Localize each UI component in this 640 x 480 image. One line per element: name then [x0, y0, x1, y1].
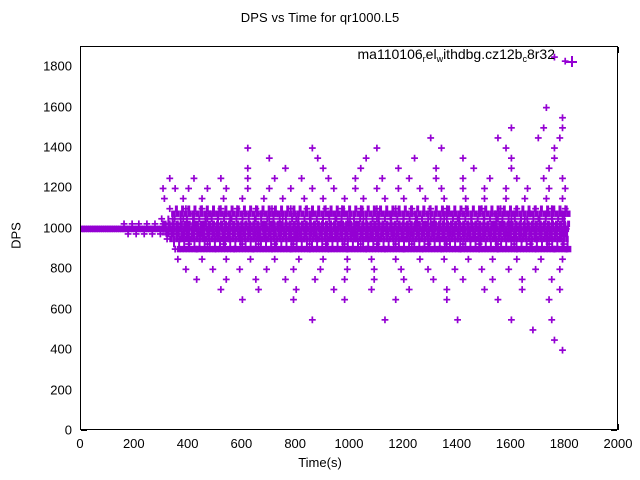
- scatter-markers: [81, 47, 619, 431]
- data-points-layer: [81, 47, 619, 431]
- x-tick-label: 2000: [583, 436, 640, 451]
- legend-entry-label: ma110106relwithdbg.cz12bc8r32: [358, 46, 555, 62]
- legend-part-1: ma110106: [358, 46, 423, 62]
- scatter-plot-figure: DPS vs Time for qr1000.L5 Time(s) DPS 02…: [0, 0, 640, 480]
- legend-part-2: el: [426, 46, 437, 62]
- legend-sub-1: r: [423, 54, 426, 64]
- legend-sub-3: c: [522, 54, 527, 64]
- plot-area: [80, 46, 618, 430]
- legend-part-3: ithdbg.cz12b: [443, 46, 522, 62]
- legend-part-4: 8r32: [527, 46, 555, 62]
- legend-plus-icon: [566, 56, 577, 67]
- legend-sub-2: w: [437, 54, 444, 64]
